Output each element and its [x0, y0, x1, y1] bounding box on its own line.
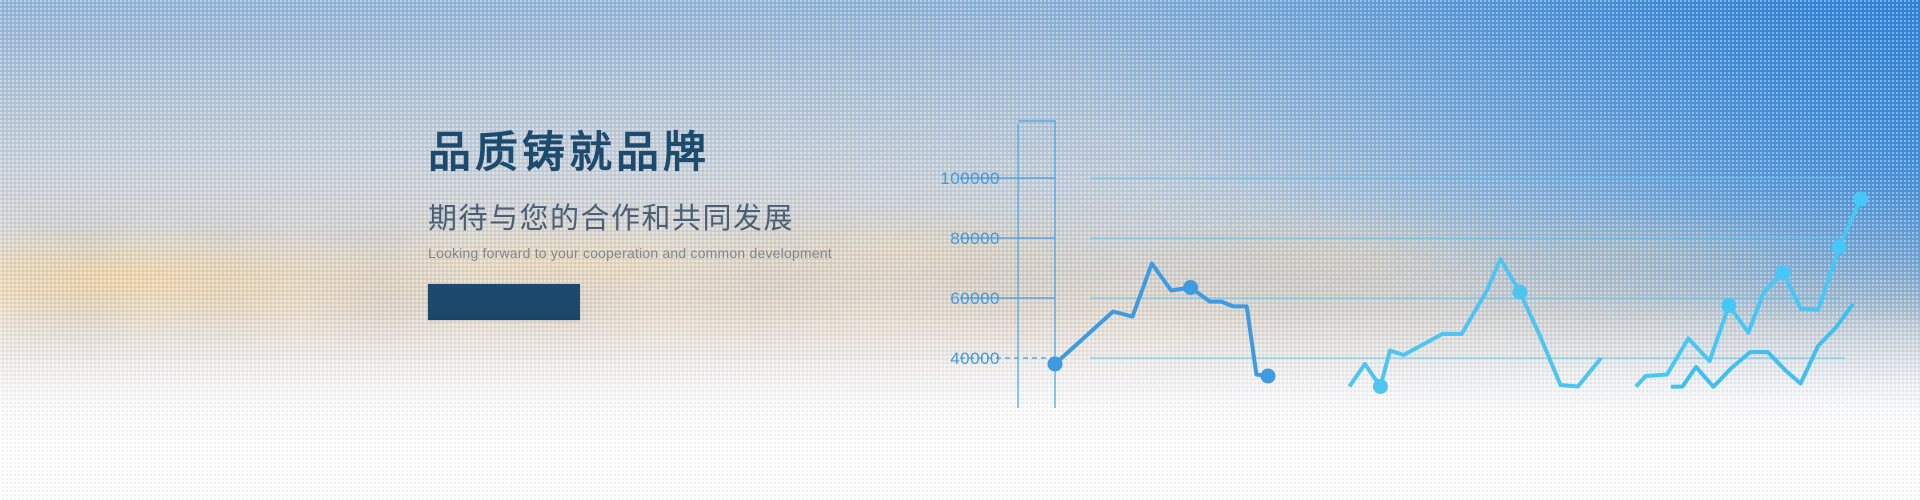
background-corner-glow — [0, 0, 1920, 500]
subtitle-cn: 期待与您的合作和共同发展 — [428, 175, 908, 234]
hero-text-block: 品质铸就品牌 期待与您的合作和共同发展 Looking forward to y… — [428, 132, 908, 320]
y-axis-tick-100000: 100000 — [940, 169, 1000, 188]
background-bottom-fade — [0, 0, 1920, 500]
background-skyline-silhouette — [0, 0, 1920, 500]
cta-button[interactable] — [428, 284, 580, 320]
y-axis-tick-40000: 40000 — [950, 349, 1000, 368]
growth-line-chart: 400006000080000100000 — [0, 0, 1920, 500]
background-blue-gradient — [0, 0, 1920, 500]
hero-banner: 400006000080000100000 品质铸就品牌 期待与您的合作和共同发… — [0, 0, 1920, 500]
halftone-dot-pattern — [0, 0, 1920, 500]
chart-axis-lines — [1018, 120, 1055, 408]
y-axis-tick-80000: 80000 — [950, 229, 1000, 248]
page-title: 品质铸就品牌 — [428, 132, 908, 175]
chart-series-group — [1048, 192, 1869, 395]
background-warm-haze — [0, 0, 1920, 500]
y-axis-tick-60000: 60000 — [950, 289, 1000, 308]
background-sky-gradient — [0, 0, 1920, 500]
subtitle-en: Looking forward to your cooperation and … — [428, 234, 908, 260]
chart-y-axis-tick-labels: 400006000080000100000 — [940, 169, 1000, 368]
chart-gridlines — [960, 178, 1845, 358]
